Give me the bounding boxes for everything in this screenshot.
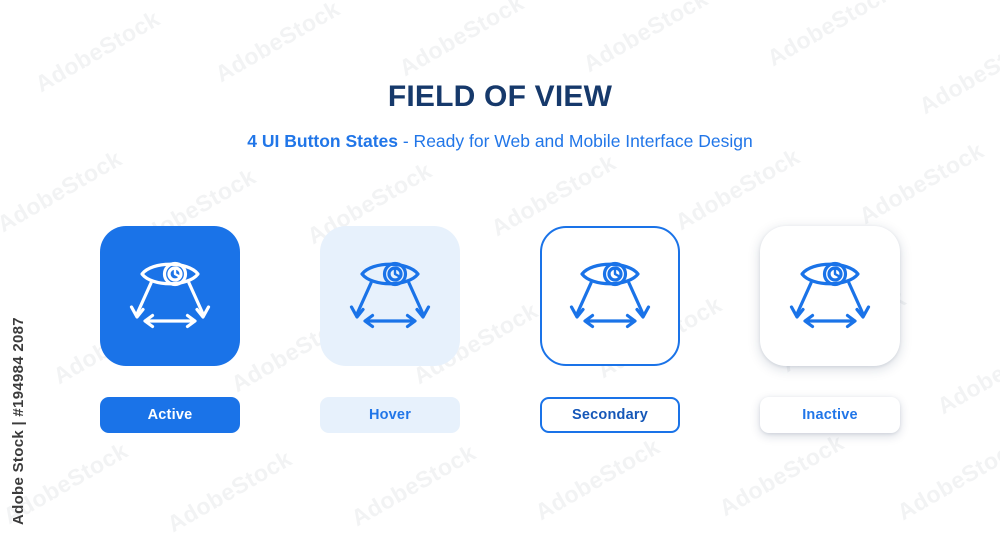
subtitle-rest: - Ready for Web and Mobile Interface Des… xyxy=(398,131,753,151)
background-watermark: AdobeStock xyxy=(395,0,529,82)
background-watermark: AdobeStock xyxy=(579,0,713,78)
field-of-view-eye-icon xyxy=(778,244,882,348)
background-watermark: AdobeStock xyxy=(0,145,127,238)
page-title: FIELD OF VIEW xyxy=(0,82,1000,112)
header: FIELD OF VIEW 4 UI Button States - Ready… xyxy=(0,82,1000,151)
icon-card-secondary[interactable] xyxy=(540,226,680,366)
icon-card-active[interactable] xyxy=(100,226,240,366)
state-label-text: Hover xyxy=(369,407,411,423)
background-watermark: AdobeStock xyxy=(763,0,897,72)
state-label-text: Active xyxy=(148,407,193,423)
state-active: Active xyxy=(60,226,280,433)
canvas: AdobeStock AdobeStock AdobeStock AdobeSt… xyxy=(0,0,1000,526)
icon-card-hover[interactable] xyxy=(320,226,460,366)
state-secondary: Secondary xyxy=(500,226,720,433)
field-of-view-eye-icon xyxy=(558,244,662,348)
button-state-row: Active xyxy=(0,226,1000,466)
state-label-active[interactable]: Active xyxy=(100,397,240,433)
background-watermark: AdobeStock xyxy=(211,0,345,88)
page-subtitle: 4 UI Button States - Ready for Web and M… xyxy=(0,133,1000,151)
state-label-hover[interactable]: Hover xyxy=(320,397,460,433)
icon-card-inactive[interactable] xyxy=(760,226,900,366)
state-label-secondary[interactable]: Secondary xyxy=(540,397,680,433)
state-label-inactive[interactable]: Inactive xyxy=(760,397,900,433)
background-watermark: AdobeStock xyxy=(855,137,989,230)
state-hover: Hover xyxy=(280,226,500,433)
background-watermark: AdobeStock xyxy=(671,143,805,236)
field-of-view-eye-icon xyxy=(118,244,222,348)
state-inactive: Inactive xyxy=(720,226,940,433)
subtitle-strong: 4 UI Button States xyxy=(247,131,398,151)
stock-id-watermark: Adobe Stock | #194984 2087 xyxy=(6,499,306,525)
state-label-text: Secondary xyxy=(572,407,648,423)
field-of-view-eye-icon xyxy=(338,244,442,348)
state-label-text: Inactive xyxy=(802,407,858,423)
